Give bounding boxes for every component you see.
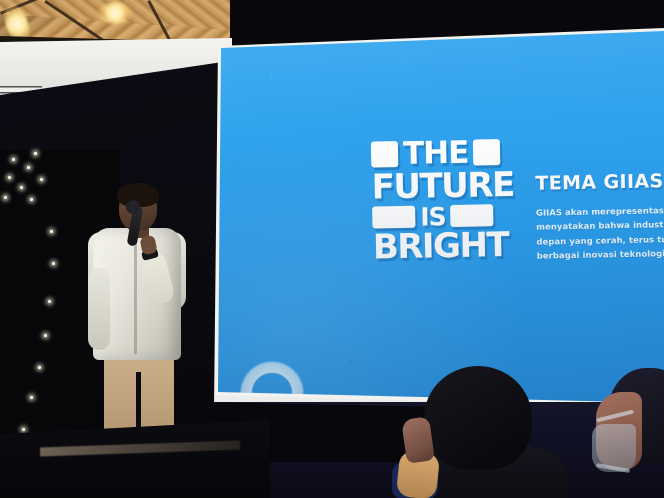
string-light	[34, 152, 37, 155]
string-light	[52, 262, 55, 265]
string-light	[48, 300, 51, 303]
string-light	[22, 428, 25, 431]
speaker-shirt-placket	[134, 236, 137, 354]
ceiling-light	[98, 2, 132, 24]
string-light	[20, 186, 23, 189]
string-light	[8, 176, 11, 179]
string-light	[30, 396, 33, 399]
string-light	[38, 366, 41, 369]
string-light	[27, 166, 30, 169]
photo-scene: THE FUTURE IS BRIGHT TEMA GIIAS GIIAS ak…	[0, 0, 664, 498]
string-light	[30, 198, 33, 201]
string-light	[4, 196, 7, 199]
screen-vignette	[218, 31, 664, 415]
string-light	[40, 178, 43, 181]
audience-person-head	[424, 366, 532, 470]
string-light	[44, 334, 47, 337]
string-light	[12, 158, 15, 161]
projection-screen: THE FUTURE IS BRIGHT TEMA GIIAS GIIAS ak…	[218, 31, 664, 415]
string-light	[50, 230, 53, 233]
speaker-arm-left	[88, 268, 110, 350]
